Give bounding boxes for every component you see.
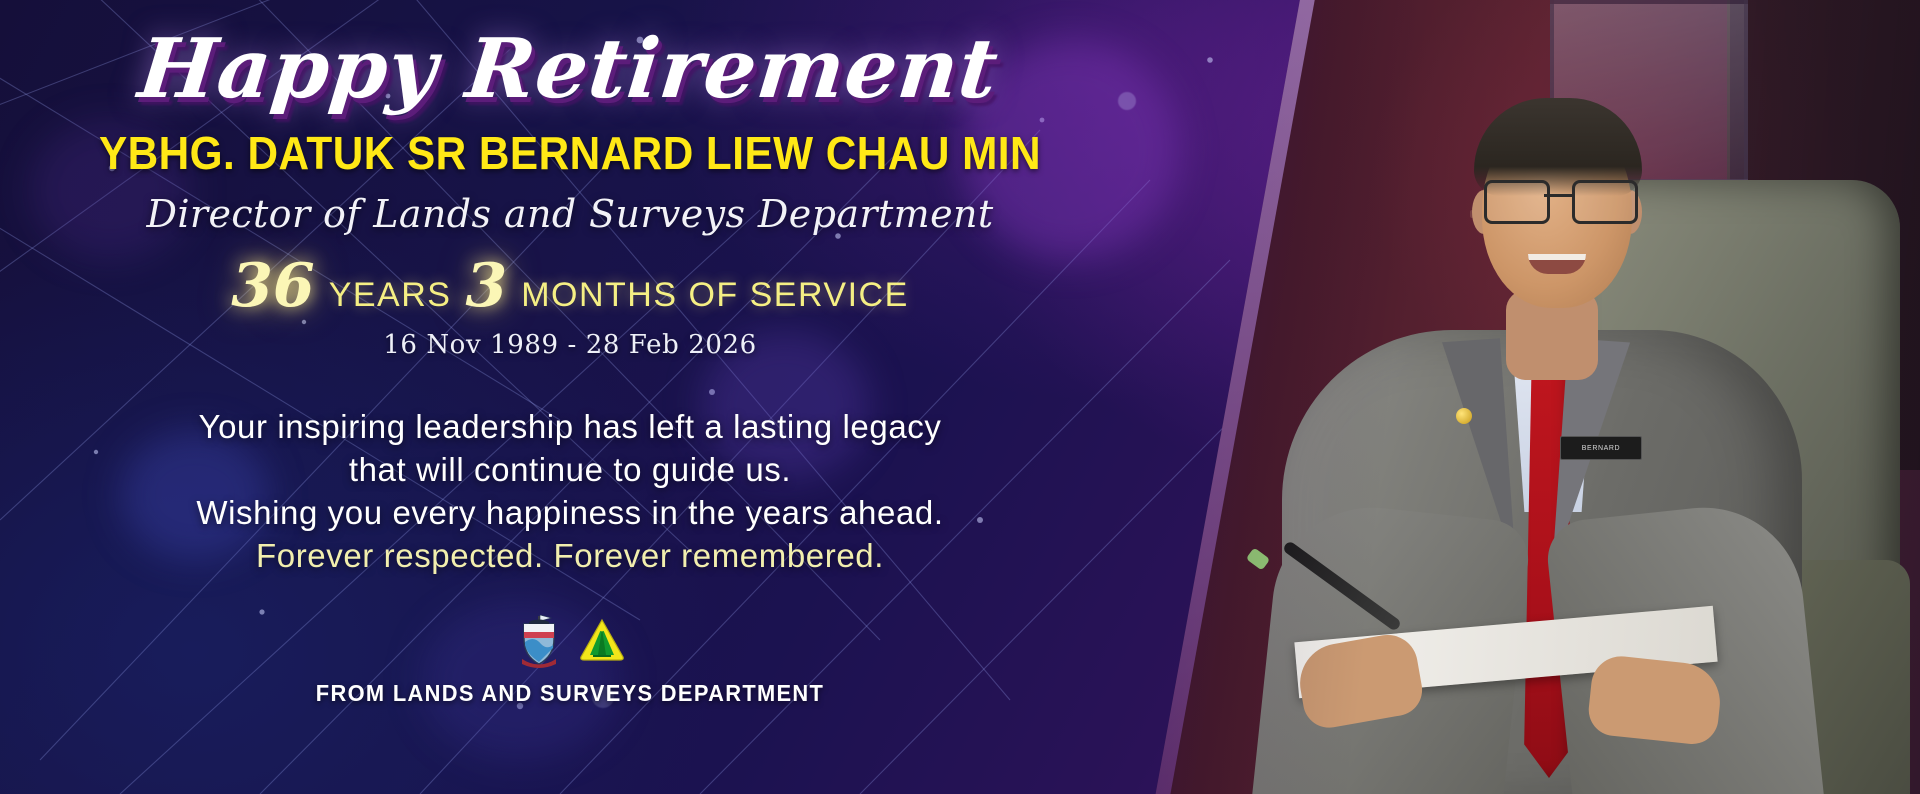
position-title: Director of Lands and Surveys Department xyxy=(0,192,1140,236)
eyeglasses-icon xyxy=(1482,180,1634,220)
lapel-pin xyxy=(1456,408,1472,424)
service-years-label: YEARS xyxy=(329,276,452,315)
person-figure: BERNARD xyxy=(1260,40,1820,794)
glasses-bridge xyxy=(1544,194,1572,197)
page-title: Happy Retirement xyxy=(0,0,1146,112)
service-months-value: 3 xyxy=(465,256,507,316)
sabah-state-crest-icon xyxy=(515,612,563,668)
name-badge: BERNARD xyxy=(1560,436,1642,460)
tribute-line: that will continue to guide us. xyxy=(0,449,1140,492)
photo-background: BERNARD xyxy=(1140,0,1920,794)
director-photo: BERNARD xyxy=(1140,0,1920,794)
service-date-range: 16 Nov 1989 - 28 Feb 2026 xyxy=(0,330,1140,360)
logo-row xyxy=(0,612,1140,668)
tribute-message: Your inspiring leadership has left a las… xyxy=(0,406,1140,578)
tribute-closing-line: Forever respected. Forever remembered. xyxy=(0,535,1140,578)
tribute-line: Your inspiring leadership has left a las… xyxy=(0,406,1140,449)
banner-content: Happy Retirement YBHG. DATUK SR BERNARD … xyxy=(0,0,1140,794)
lands-surveys-triangle-icon xyxy=(579,617,625,663)
lens-right xyxy=(1572,180,1638,224)
service-months-label: MONTHS OF SERVICE xyxy=(521,276,909,315)
retirement-banner: BERNARD xyxy=(0,0,1920,794)
service-years-value: 36 xyxy=(231,256,315,316)
honoree-name: YBHG. DATUK SR BERNARD LIEW CHAU MIN xyxy=(46,126,1095,180)
pen-tip xyxy=(1246,547,1270,570)
tribute-line: Wishing you every happiness in the years… xyxy=(0,492,1140,535)
lens-left xyxy=(1484,180,1550,224)
footer-credit: FROM LANDS AND SURVEYS DEPARTMENT xyxy=(29,680,1112,707)
service-duration: 36 YEARS 3 MONTHS OF SERVICE xyxy=(0,256,1140,316)
